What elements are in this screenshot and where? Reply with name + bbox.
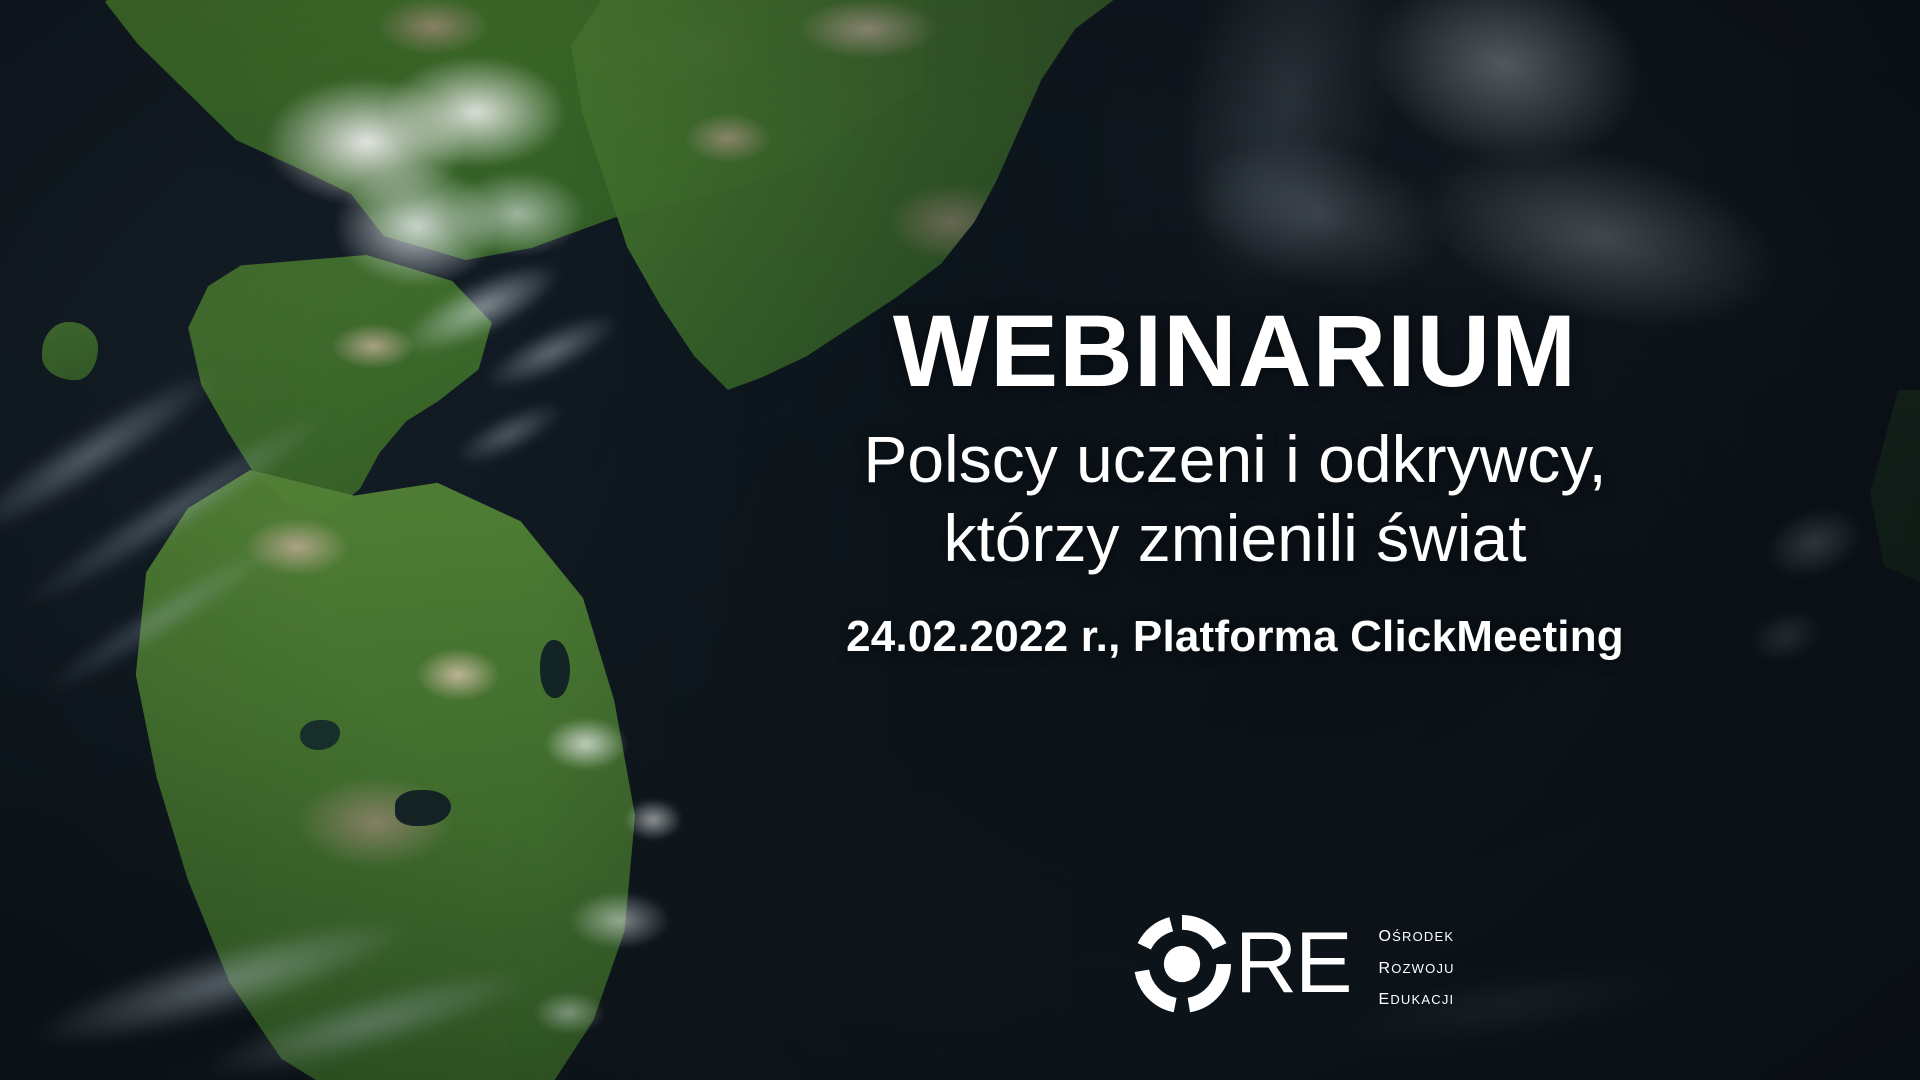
poster-subtitle: Polscy uczeni i odkrywcy, którzy zmienil…	[620, 420, 1850, 578]
ore-tagline: Ośrodek Rozwoju Edukacji	[1378, 917, 1454, 1011]
ore-logo: RE Ośrodek Rozwoju Edukacji	[1133, 915, 1455, 1013]
subtitle-line-2: którzy zmienili świat	[620, 499, 1850, 578]
subtitle-line-1: Polscy uczeni i odkrywcy,	[620, 420, 1850, 499]
page-title: WEBINARIUM	[620, 300, 1850, 402]
ore-tagline-line-2: Rozwoju	[1378, 951, 1454, 980]
ore-circle-mark	[1133, 915, 1231, 1013]
webinar-poster: WEBINARIUM Polscy uczeni i odkrywcy, któ…	[0, 0, 1920, 1080]
poster-text-block: WEBINARIUM Polscy uczeni i odkrywcy, któ…	[620, 300, 1850, 662]
ore-wordmark: RE	[1235, 926, 1350, 1002]
event-date-platform: 24.02.2022 r., Platforma ClickMeeting	[620, 612, 1850, 662]
ore-tagline-line-3: Edukacji	[1378, 982, 1454, 1011]
ore-tagline-line-1: Ośrodek	[1378, 919, 1454, 948]
